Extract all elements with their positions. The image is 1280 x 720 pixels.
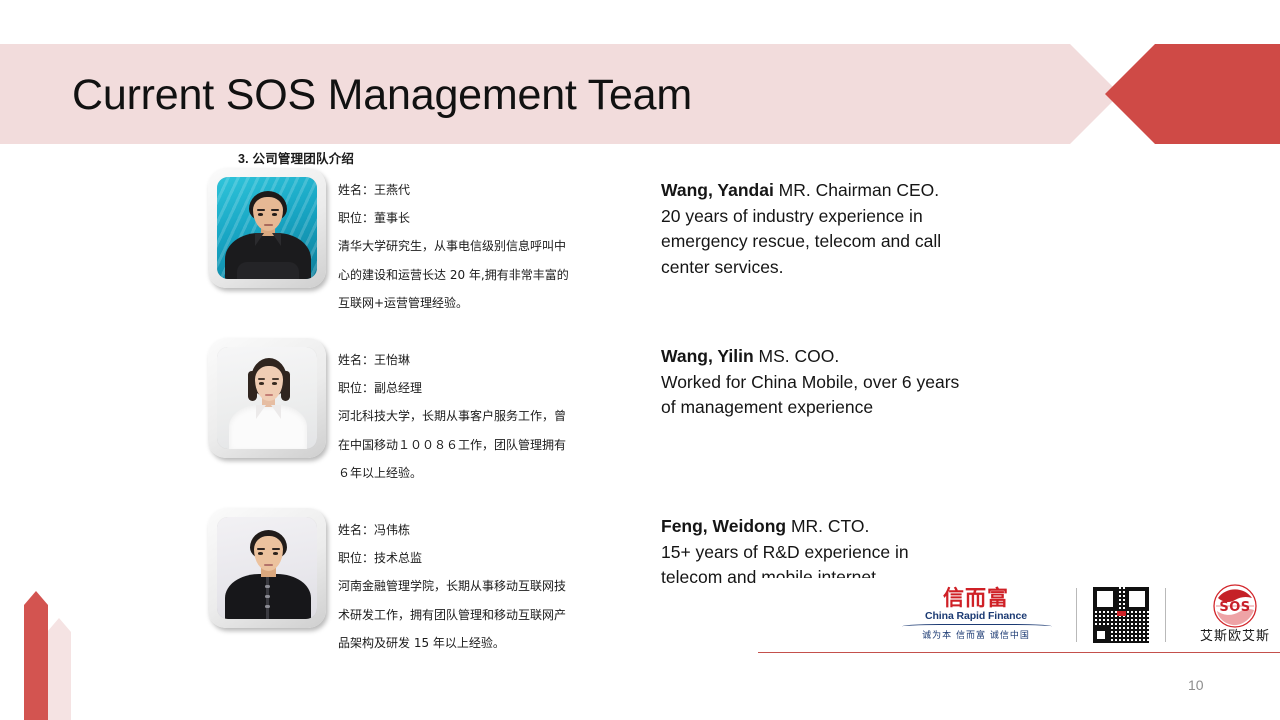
profile-cn-title: 职位：董事长	[338, 204, 573, 232]
eyebrow-left	[257, 209, 265, 211]
sos-chinese-wordmark: 艾斯欧艾斯	[1192, 629, 1278, 645]
eyebrow-left	[258, 378, 265, 380]
logo-divider	[1076, 588, 1077, 642]
person-illustration	[217, 347, 317, 449]
page-title: Current SOS Management Team	[72, 66, 692, 124]
profile-en-role: MR. Chairman CEO.	[774, 180, 939, 200]
logo-divider	[1165, 588, 1166, 642]
header-accent-chevron	[1105, 44, 1280, 144]
profile-english-text: Wang, Yandai MR. Chairman CEO. 20 years …	[661, 178, 961, 280]
slide-canvas: Current SOS Management Team 3. 公司管理团队介绍	[0, 0, 1280, 720]
photo-feng-weidong	[208, 508, 326, 628]
profile-en-name: Feng, Weidong	[661, 516, 786, 536]
china-rapid-finance-logo: 信而富 China Rapid Finance 诚为本 信而富 诚信中国	[902, 587, 1060, 642]
sos-globe-icon: SOS	[1213, 584, 1257, 628]
profile-cn-bio: 河南金融管理学院，长期从事移动互联网技术研发工作，拥有团队管理和移动互联网产品架…	[338, 572, 573, 657]
eyebrow-right	[272, 378, 279, 380]
mouth-shape	[264, 564, 273, 566]
profile-chinese-text: 姓名：王怡琳 职位：副总经理 河北科技大学，长期从事客户服务工作，曾在中国移动１…	[338, 346, 573, 487]
photo-image	[217, 177, 317, 279]
profile-cn-title: 职位：副总经理	[338, 374, 573, 402]
crossed-arms	[237, 262, 299, 279]
profile-en-role: MS. COO.	[754, 346, 840, 366]
mouth-shape	[264, 224, 273, 226]
page-number: 10	[1188, 677, 1204, 693]
crf-divider-rule	[902, 624, 1052, 629]
footer-logo-strip: 信而富 China Rapid Finance 诚为本 信而富 诚信中国	[758, 578, 1280, 653]
section-label: 3. 公司管理团队介绍	[238, 148, 354, 167]
eye-left	[258, 213, 263, 216]
eye-right	[272, 382, 277, 385]
profile-chinese-text: 姓名：王燕代 职位：董事长 清华大学研究生，从事电信级别信息呼叫中心的建设和运营…	[338, 176, 573, 317]
jacket-placket	[266, 577, 269, 619]
eyebrow-left	[257, 548, 265, 550]
collar-left	[255, 233, 264, 246]
jacket-button	[265, 595, 270, 598]
person-illustration	[217, 177, 317, 279]
photo-wang-yandai	[208, 168, 326, 288]
eye-right	[273, 552, 278, 555]
profile-english-text: Wang, Yilin MS. COO. Worked for China Mo…	[661, 344, 961, 421]
crf-chinese-wordmark: 信而富	[902, 587, 1050, 610]
eye-right	[272, 213, 277, 216]
profile-cn-name: 姓名：王燕代	[338, 176, 573, 204]
sos-logo: SOS 艾斯欧艾斯	[1182, 584, 1278, 645]
person-illustration	[217, 517, 317, 619]
jacket-button	[265, 585, 270, 588]
torso-shape	[229, 405, 307, 449]
photo-image	[217, 517, 317, 619]
collar-left	[256, 405, 266, 419]
eyebrow-right	[272, 548, 280, 550]
profile-en-bio: 20 years of industry experience in emerg…	[661, 204, 961, 281]
profile-en-name: Wang, Yilin	[661, 346, 754, 366]
profile-cn-name: 姓名：王怡琳	[338, 346, 573, 374]
profile-cn-bio: 清华大学研究生，从事电信级别信息呼叫中心的建设和运营长达 20 年,拥有非常丰富…	[338, 232, 573, 317]
mouth-shape	[265, 394, 273, 396]
profile-en-name: Wang, Yandai	[661, 180, 774, 200]
collar-right	[272, 233, 281, 246]
crf-tagline: 诚为本 信而富 诚信中国	[902, 630, 1050, 642]
profile-cn-title: 职位：技术总监	[338, 544, 573, 572]
profile-en-bio: Worked for China Mobile, over 6 years of…	[661, 370, 961, 421]
eye-left	[259, 382, 264, 385]
photo-image	[217, 347, 317, 449]
crf-english-wordmark: China Rapid Finance	[902, 610, 1050, 623]
qr-center-logo	[1117, 611, 1126, 616]
eyebrow-right	[271, 209, 279, 211]
svg-text:SOS: SOS	[1219, 600, 1250, 615]
logo-group: 信而富 China Rapid Finance 诚为本 信而富 诚信中国	[902, 578, 1278, 651]
photo-wang-yilin	[208, 338, 326, 458]
profile-en-role: MR. CTO.	[786, 516, 869, 536]
collar-right	[271, 405, 281, 419]
qr-finder-bottom-left	[1093, 627, 1109, 643]
decorative-arrow-pink-icon	[47, 618, 71, 720]
sos-globe-svg: SOS	[1213, 584, 1257, 628]
profile-chinese-text: 姓名：冯伟栋 职位：技术总监 河南金融管理学院，长期从事移动互联网技术研发工作，…	[338, 516, 573, 657]
qr-code-icon	[1093, 587, 1149, 643]
eye-left	[258, 552, 263, 555]
profile-cn-name: 姓名：冯伟栋	[338, 516, 573, 544]
profile-cn-bio: 河北科技大学，长期从事客户服务工作，曾在中国移动１００８６工作，团队管理拥有６年…	[338, 402, 573, 487]
decorative-arrow-red-icon	[24, 591, 48, 720]
jacket-button	[265, 605, 270, 608]
